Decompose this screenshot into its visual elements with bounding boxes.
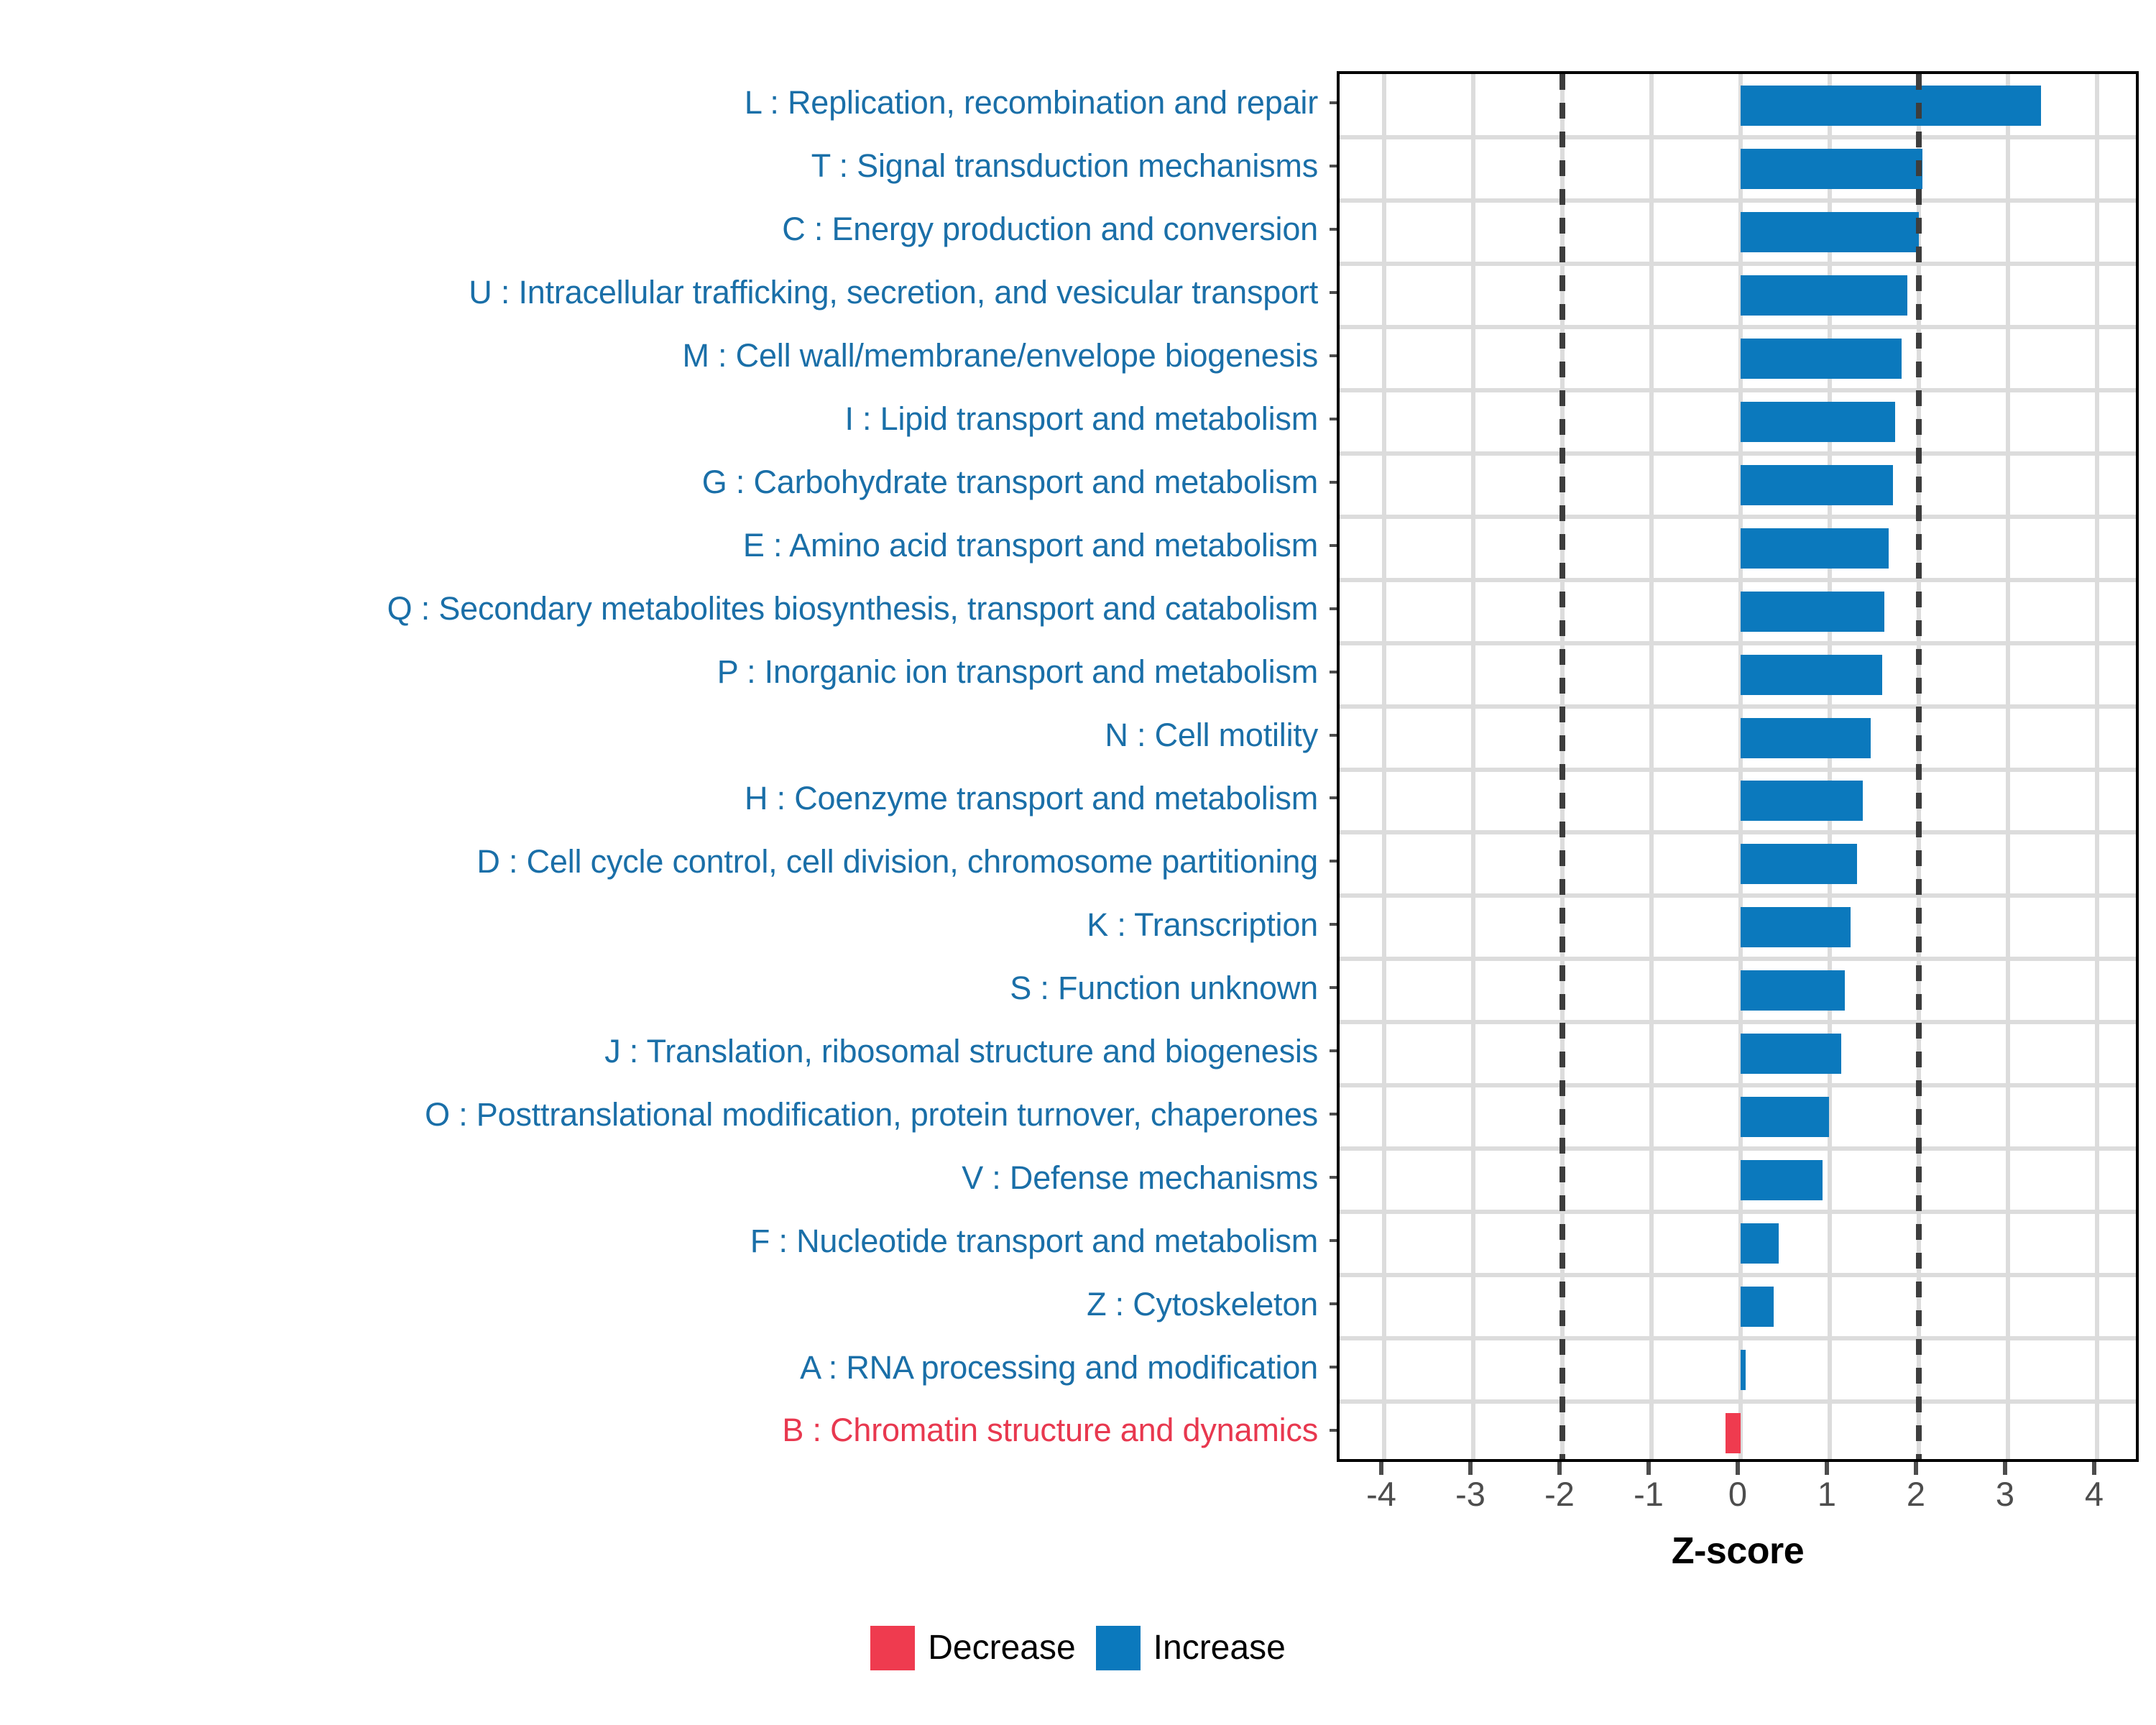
x-axis-ticks <box>1337 1462 2139 1475</box>
threshold-line <box>1560 74 1565 1459</box>
category-label-row: A : RNA processing and modification <box>0 1335 1330 1399</box>
category-label: P : Inorganic ion transport and metaboli… <box>717 655 1318 688</box>
bar <box>1741 1097 1829 1137</box>
category-label: O : Posttranslational modification, prot… <box>425 1098 1318 1131</box>
category-label-row: Q : Secondary metabolites biosynthesis, … <box>0 577 1330 640</box>
category-label: I : Lipid transport and metabolism <box>844 402 1318 435</box>
x-axis-tick <box>1736 1462 1740 1475</box>
threshold-line <box>1916 74 1922 1459</box>
vertical-gridline <box>2006 74 2010 1459</box>
x-axis-tick <box>1379 1462 1383 1475</box>
bar <box>1741 907 1851 947</box>
horizontal-gridline <box>1340 1399 2136 1404</box>
category-label: A : RNA processing and modification <box>800 1351 1318 1384</box>
category-label-row: B : Chromatin structure and dynamics <box>0 1399 1330 1462</box>
vertical-gridline <box>2095 74 2099 1459</box>
horizontal-gridline <box>1340 578 2136 582</box>
category-label-row: D : Cell cycle control, cell division, c… <box>0 829 1330 893</box>
x-axis-tick <box>1468 1462 1473 1475</box>
bar <box>1741 1223 1779 1264</box>
category-label: N : Cell motility <box>1105 719 1318 751</box>
horizontal-gridline <box>1340 1210 2136 1214</box>
legend-label: Increase <box>1153 1631 1286 1665</box>
category-label: Z : Cytoskeleton <box>1087 1288 1318 1320</box>
x-axis-tick-label: -4 <box>1366 1477 1396 1511</box>
legend-item[interactable]: Increase <box>1096 1626 1286 1670</box>
x-axis-tick <box>1557 1462 1562 1475</box>
bar <box>1741 528 1889 569</box>
bar <box>1741 844 1857 884</box>
category-label-row: J : Translation, ribosomal structure and… <box>0 1019 1330 1082</box>
category-label-row: V : Defense mechanisms <box>0 1146 1330 1209</box>
category-label: E : Amino acid transport and metabolism <box>743 529 1318 561</box>
horizontal-gridline <box>1340 388 2136 392</box>
category-label: B : Chromatin structure and dynamics <box>782 1414 1318 1446</box>
legend-swatch-icon <box>870 1626 915 1670</box>
horizontal-gridline <box>1340 515 2136 519</box>
category-label-row: H : Coenzyme transport and metabolism <box>0 766 1330 829</box>
category-label-row: E : Amino acid transport and metabolism <box>0 514 1330 577</box>
category-label: D : Cell cycle control, cell division, c… <box>476 845 1318 878</box>
x-axis-tick-label: 0 <box>1728 1477 1747 1511</box>
bar <box>1741 1160 1823 1200</box>
legend-swatch-icon <box>1096 1626 1141 1670</box>
horizontal-gridline <box>1340 325 2136 329</box>
bar <box>1741 655 1882 695</box>
bar <box>1741 781 1863 821</box>
horizontal-gridline <box>1340 830 2136 834</box>
category-label-row: S : Function unknown <box>0 956 1330 1019</box>
bar <box>1741 1350 1746 1390</box>
horizontal-gridline <box>1340 451 2136 456</box>
bar <box>1726 1413 1741 1453</box>
category-label: V : Defense mechanisms <box>962 1161 1318 1194</box>
x-axis-title: Z-score <box>1337 1529 2139 1573</box>
category-label: U : Intracellular trafficking, secretion… <box>469 276 1318 308</box>
horizontal-gridline <box>1340 641 2136 645</box>
category-label: F : Nucleotide transport and metabolism <box>750 1225 1318 1257</box>
cog-zscore-bar-chart: L : Replication, recombination and repai… <box>0 0 2156 1725</box>
x-axis-tick <box>2003 1462 2007 1475</box>
x-axis-tick-labels: -4-3-2-101234 <box>1337 1477 2139 1520</box>
x-axis-tick-label: 3 <box>1996 1477 2014 1511</box>
bar <box>1741 149 1922 189</box>
category-label: Q : Secondary metabolites biosynthesis, … <box>387 592 1318 625</box>
bar <box>1741 1287 1774 1327</box>
category-label-row: T : Signal transduction mechanisms <box>0 134 1330 198</box>
vertical-gridline <box>1649 74 1654 1459</box>
legend-label: Decrease <box>928 1631 1075 1665</box>
horizontal-gridline <box>1340 768 2136 772</box>
horizontal-gridline <box>1340 262 2136 266</box>
category-label-row: P : Inorganic ion transport and metaboli… <box>0 640 1330 704</box>
bar <box>1741 275 1907 316</box>
x-axis-tick <box>1914 1462 1918 1475</box>
category-label: L : Replication, recombination and repai… <box>745 86 1318 119</box>
category-label: M : Cell wall/membrane/envelope biogenes… <box>682 339 1318 372</box>
x-axis-tick-label: 1 <box>1818 1477 1836 1511</box>
legend: DecreaseIncrease <box>0 1626 2156 1670</box>
bar <box>1741 718 1871 758</box>
category-axis-labels: L : Replication, recombination and repai… <box>0 71 1330 1462</box>
horizontal-gridline <box>1340 135 2136 139</box>
horizontal-gridline <box>1340 1146 2136 1151</box>
category-label-row: F : Nucleotide transport and metabolism <box>0 1209 1330 1272</box>
x-axis-tick-label: -3 <box>1455 1477 1485 1511</box>
x-axis-tick-label: 2 <box>1907 1477 1925 1511</box>
category-label: S : Function unknown <box>1010 972 1318 1004</box>
horizontal-gridline <box>1340 893 2136 898</box>
category-label-row: G : Carbohydrate transport and metabolis… <box>0 451 1330 514</box>
horizontal-gridline <box>1340 1336 2136 1340</box>
x-axis-tick <box>1646 1462 1651 1475</box>
bar <box>1741 970 1845 1011</box>
category-label-row: I : Lipid transport and metabolism <box>0 387 1330 451</box>
x-axis-tick <box>1825 1462 1829 1475</box>
x-axis-tick-label: -1 <box>1634 1477 1664 1511</box>
bar <box>1741 592 1884 632</box>
bar <box>1741 402 1895 442</box>
plot-panel <box>1337 71 2139 1462</box>
bar <box>1741 339 1902 379</box>
category-label: H : Coenzyme transport and metabolism <box>745 782 1318 814</box>
category-label-row: U : Intracellular trafficking, secretion… <box>0 261 1330 324</box>
category-label: J : Translation, ribosomal structure and… <box>604 1035 1318 1067</box>
horizontal-gridline <box>1340 198 2136 203</box>
horizontal-gridline <box>1340 1083 2136 1087</box>
vertical-gridline <box>1471 74 1475 1459</box>
horizontal-gridline <box>1340 1273 2136 1277</box>
category-label-row: M : Cell wall/membrane/envelope biogenes… <box>0 324 1330 387</box>
bar <box>1741 86 2041 126</box>
x-axis-tick <box>2092 1462 2096 1475</box>
category-label: T : Signal transduction mechanisms <box>811 149 1318 182</box>
category-label-row: Z : Cytoskeleton <box>0 1272 1330 1335</box>
horizontal-gridline <box>1340 704 2136 709</box>
bar <box>1741 465 1893 505</box>
category-label-row: L : Replication, recombination and repai… <box>0 71 1330 134</box>
category-label-row: N : Cell motility <box>0 704 1330 767</box>
horizontal-gridline <box>1340 957 2136 961</box>
bar <box>1741 212 1919 252</box>
legend-item[interactable]: Decrease <box>870 1626 1075 1670</box>
category-label: G : Carbohydrate transport and metabolis… <box>702 466 1318 498</box>
vertical-gridline <box>1382 74 1386 1459</box>
category-label: K : Transcription <box>1087 908 1318 941</box>
category-label-row: K : Transcription <box>0 893 1330 956</box>
category-label-row: O : Posttranslational modification, prot… <box>0 1082 1330 1146</box>
category-label: C : Energy production and conversion <box>782 213 1318 245</box>
bar <box>1741 1034 1841 1074</box>
category-label-row: C : Energy production and conversion <box>0 198 1330 261</box>
x-axis-tick-label: 4 <box>2085 1477 2104 1511</box>
x-axis-tick-label: -2 <box>1544 1477 1575 1511</box>
horizontal-gridline <box>1340 1020 2136 1024</box>
